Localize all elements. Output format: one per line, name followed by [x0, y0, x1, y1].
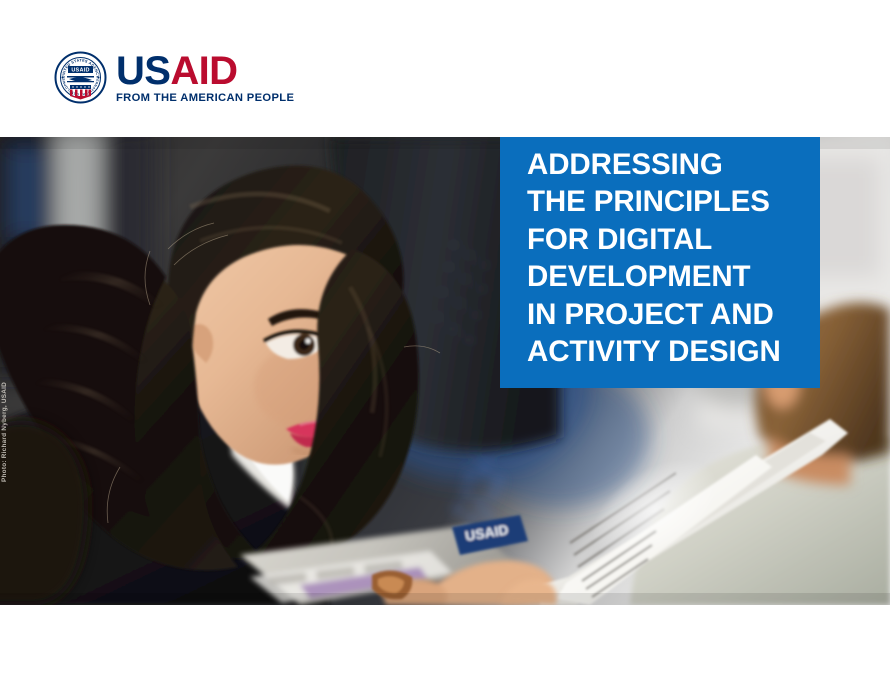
usaid-seal-icon: UNITED STATES AGENCY INTERNATIONAL DEVEL… [54, 51, 107, 104]
header-band: UNITED STATES AGENCY INTERNATIONAL DEVEL… [0, 0, 890, 137]
usaid-wordmark: USAID FROM THE AMERICAN PEOPLE [116, 50, 294, 104]
svg-text:USAID: USAID [71, 67, 89, 73]
wordmark-aid: AID [170, 49, 237, 93]
usaid-tagline: FROM THE AMERICAN PEOPLE [116, 93, 294, 104]
usaid-wordmark-text: USAID [116, 52, 294, 90]
wordmark-us: US [116, 49, 170, 93]
usaid-logo: UNITED STATES AGENCY INTERNATIONAL DEVEL… [54, 50, 294, 104]
cover-page: USAID [0, 0, 890, 687]
title-line-3: THE PRINCIPLES [527, 183, 820, 221]
title-line-6: IN PROJECT AND [527, 296, 820, 334]
title-line-2: ADDRESSING [527, 146, 820, 184]
title-line-5: DEVELOPMENT [527, 258, 820, 296]
title-line-7: ACTIVITY DESIGN [527, 333, 820, 371]
footer-band [0, 605, 890, 687]
title-line-4: FOR DIGITAL [527, 221, 820, 259]
photo-credit: Photo: Richard Nyberg, USAID [1, 382, 8, 482]
